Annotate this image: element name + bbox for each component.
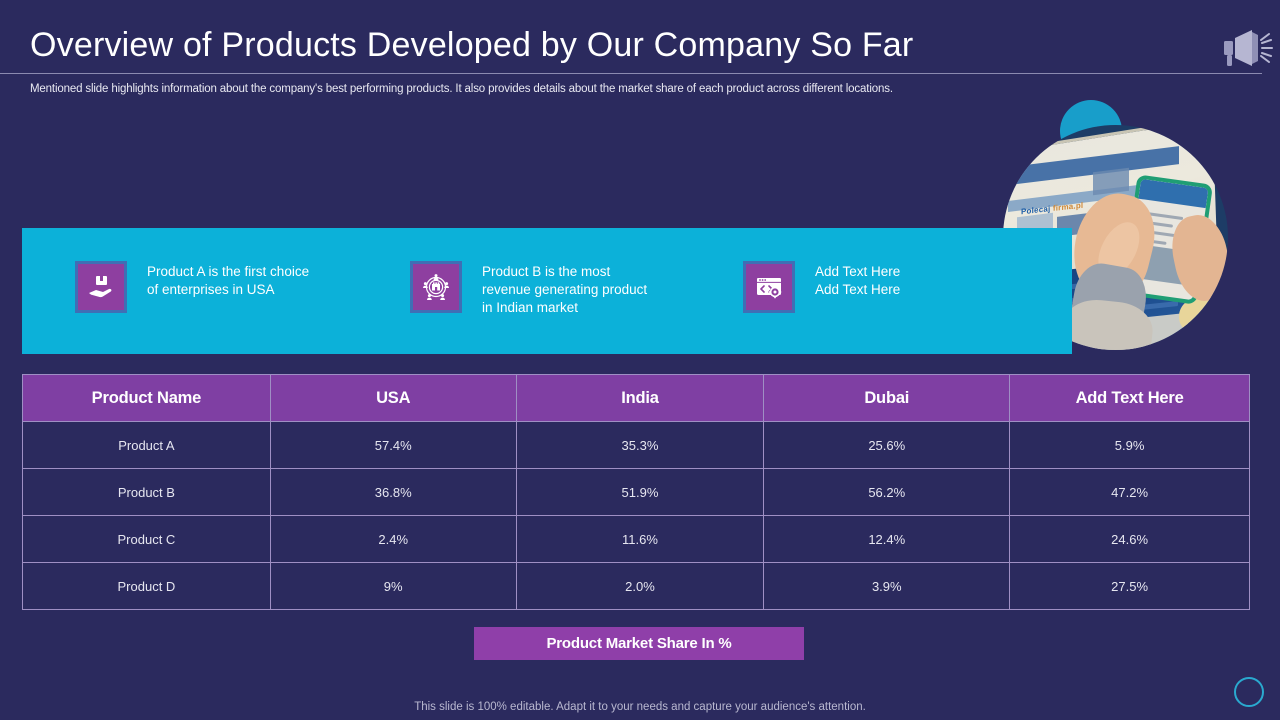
highlight-line: Product A is the first choice — [147, 263, 309, 281]
highlight-line: Product B is the most — [482, 263, 647, 281]
column-header-product-name: Product Name — [23, 375, 271, 422]
highlight-item-2: Product B is the most revenue generating… — [410, 261, 647, 317]
product-market-share-label: Product Market Share In % — [474, 627, 804, 660]
cell-usa: 36.8% — [270, 469, 516, 516]
browser-code-gear-icon — [743, 261, 795, 313]
table-row: Product C 2.4% 11.6% 12.4% 24.6% — [23, 516, 1250, 563]
cell-dubai: 25.6% — [764, 422, 1010, 469]
cell-india: 11.6% — [516, 516, 764, 563]
highlights-banner: Product A is the first choice of enterpr… — [22, 228, 1072, 354]
highlight-line: of enterprises in USA — [147, 281, 309, 299]
cell-add-text: 27.5% — [1010, 563, 1250, 610]
highlight-line: revenue generating product — [482, 281, 647, 299]
table-header-row: Product Name USA India Dubai Add Text He… — [23, 375, 1250, 422]
column-header-dubai: Dubai — [764, 375, 1010, 422]
footer-note: This slide is 100% editable. Adapt it to… — [0, 701, 1280, 713]
cell-add-text: 24.6% — [1010, 516, 1250, 563]
megaphone-icon — [1222, 26, 1274, 70]
cell-usa: 9% — [270, 563, 516, 610]
highlight-text-1: Product A is the first choice of enterpr… — [147, 261, 309, 299]
column-header-india: India — [516, 375, 764, 422]
table-row: Product B 36.8% 51.9% 56.2% 47.2% — [23, 469, 1250, 516]
page-subtitle: Mentioned slide highlights information a… — [30, 83, 893, 95]
cell-india: 35.3% — [516, 422, 764, 469]
cell-dubai: 12.4% — [764, 516, 1010, 563]
cell-india: 2.0% — [516, 563, 764, 610]
highlight-item-1: Product A is the first choice of enterpr… — [75, 261, 309, 313]
cell-add-text: 47.2% — [1010, 469, 1250, 516]
cell-india: 51.9% — [516, 469, 764, 516]
highlight-line: Add Text Here — [815, 263, 900, 281]
cell-product-name: Product A — [23, 422, 271, 469]
cell-usa: 57.4% — [270, 422, 516, 469]
table-row: Product D 9% 2.0% 3.9% 27.5% — [23, 563, 1250, 610]
column-header-add-text: Add Text Here — [1010, 375, 1250, 422]
column-header-usa: USA — [270, 375, 516, 422]
highlight-text-2: Product B is the most revenue generating… — [482, 261, 647, 317]
cell-dubai: 3.9% — [764, 563, 1010, 610]
cell-product-name: Product C — [23, 516, 271, 563]
table-row: Product A 57.4% 35.3% 25.6% 5.9% — [23, 422, 1250, 469]
cell-usa: 2.4% — [270, 516, 516, 563]
page-title: Overview of Products Developed by Our Co… — [30, 26, 913, 65]
slide-root: Overview of Products Developed by Our Co… — [0, 0, 1280, 720]
highlight-item-3: Add Text Here Add Text Here — [743, 261, 900, 313]
highlight-text-3: Add Text Here Add Text Here — [815, 261, 900, 299]
cell-add-text: 5.9% — [1010, 422, 1250, 469]
highlight-line: Add Text Here — [815, 281, 900, 299]
factory-network-icon — [410, 261, 462, 313]
hand-holding-box-icon — [75, 261, 127, 313]
cell-product-name: Product B — [23, 469, 271, 516]
market-share-table: Product Name USA India Dubai Add Text He… — [22, 374, 1250, 610]
highlight-line: in Indian market — [482, 299, 647, 317]
cell-product-name: Product D — [23, 563, 271, 610]
cell-dubai: 56.2% — [764, 469, 1010, 516]
title-divider — [0, 73, 1262, 74]
